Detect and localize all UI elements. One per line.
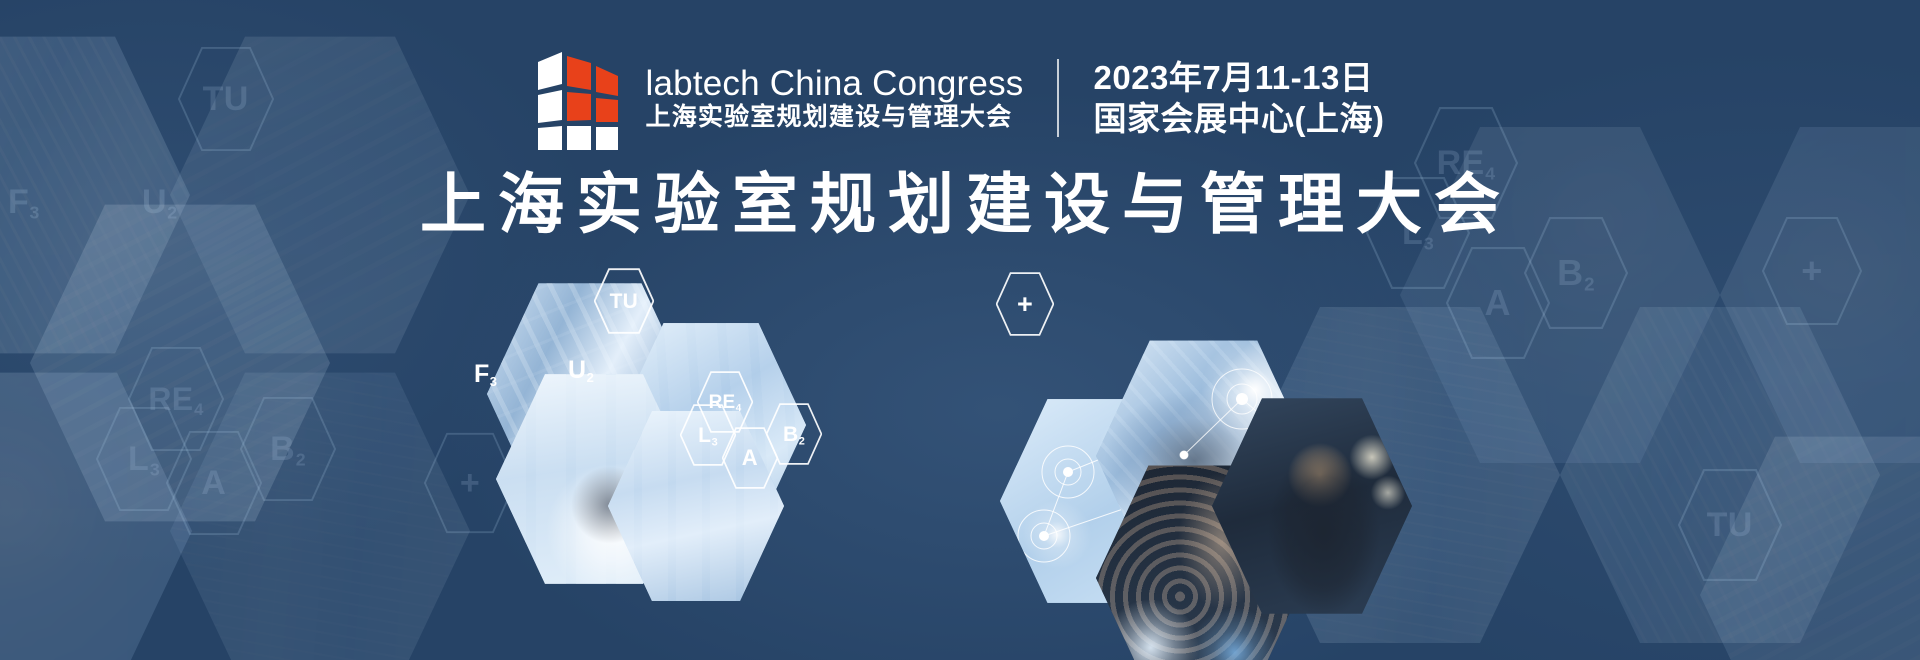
badge-symbol: L3 (698, 425, 718, 446)
event-venue: 国家会展中心(上海) (1093, 102, 1384, 135)
background-badge-a: A (166, 430, 262, 536)
background-hex-tile (1700, 430, 1920, 660)
event-banner: TU F3 U2 RE4 L3 (0, 0, 1920, 660)
badge-symbol: RE4 (148, 383, 203, 415)
event-date: 2023年7月11-13日 (1093, 61, 1384, 94)
hexagon-outline-icon (166, 430, 262, 536)
event-info-block: 2023年7月11-13日 国家会展中心(上海) (1093, 61, 1384, 135)
hexagon-outline-icon (1446, 246, 1550, 360)
logo-title: labtech China Congress (646, 66, 1024, 101)
badge-u2: U2 (568, 358, 594, 383)
logo-text-block: labtech China Congress 上海实验室规划建设与管理大会 (646, 66, 1024, 130)
badge-symbol: A (1484, 285, 1511, 321)
background-hex-tile (1560, 300, 1880, 650)
background-badge-tu-right: TU (1678, 468, 1782, 582)
header-divider (1057, 59, 1059, 137)
background-badge-re4: RE4 (128, 346, 224, 452)
page-title: 上海实验室规划建设与管理大会 (0, 168, 1920, 241)
badge-tu: TU (594, 268, 654, 334)
hexagon-outline-icon (240, 396, 336, 502)
background-hex-tile (0, 366, 192, 660)
badge-symbol: B2 (783, 424, 805, 445)
badge-plus: + (996, 272, 1054, 336)
logo-subtitle: 上海实验室规划建设与管理大会 (646, 105, 1024, 130)
badge-symbol: TU (1707, 508, 1754, 542)
hexagon-outline-icon (96, 406, 192, 512)
background-hex-tile (170, 366, 470, 660)
badge-symbol: TU (610, 291, 639, 312)
logo-block: labtech China Congress 上海实验室规划建设与管理大会 (536, 46, 1024, 150)
background-badge-b2: B2 (240, 396, 336, 502)
banner-header: labtech China Congress 上海实验室规划建设与管理大会 20… (0, 46, 1920, 150)
hexagon-outline-icon (1678, 468, 1782, 582)
badge-b2: B2 (766, 403, 822, 465)
background-badge-a-right: A (1446, 246, 1550, 360)
background-badge-l3: L3 (96, 406, 192, 512)
badge-symbol: + (1017, 291, 1033, 318)
badge-symbol: + (1801, 253, 1822, 289)
badge-symbol: A (742, 447, 759, 469)
badge-symbol: A (201, 466, 227, 500)
hexagon-outline-icon (128, 346, 224, 452)
badge-symbol: B2 (1557, 255, 1595, 291)
badge-symbol: B2 (270, 432, 306, 466)
background-hex-tile (30, 198, 330, 528)
badge-symbol: L3 (128, 442, 160, 476)
badge-symbol: + (460, 466, 480, 500)
labtech-logo-mark-icon (536, 46, 628, 150)
badge-f3: F3 (474, 362, 497, 387)
